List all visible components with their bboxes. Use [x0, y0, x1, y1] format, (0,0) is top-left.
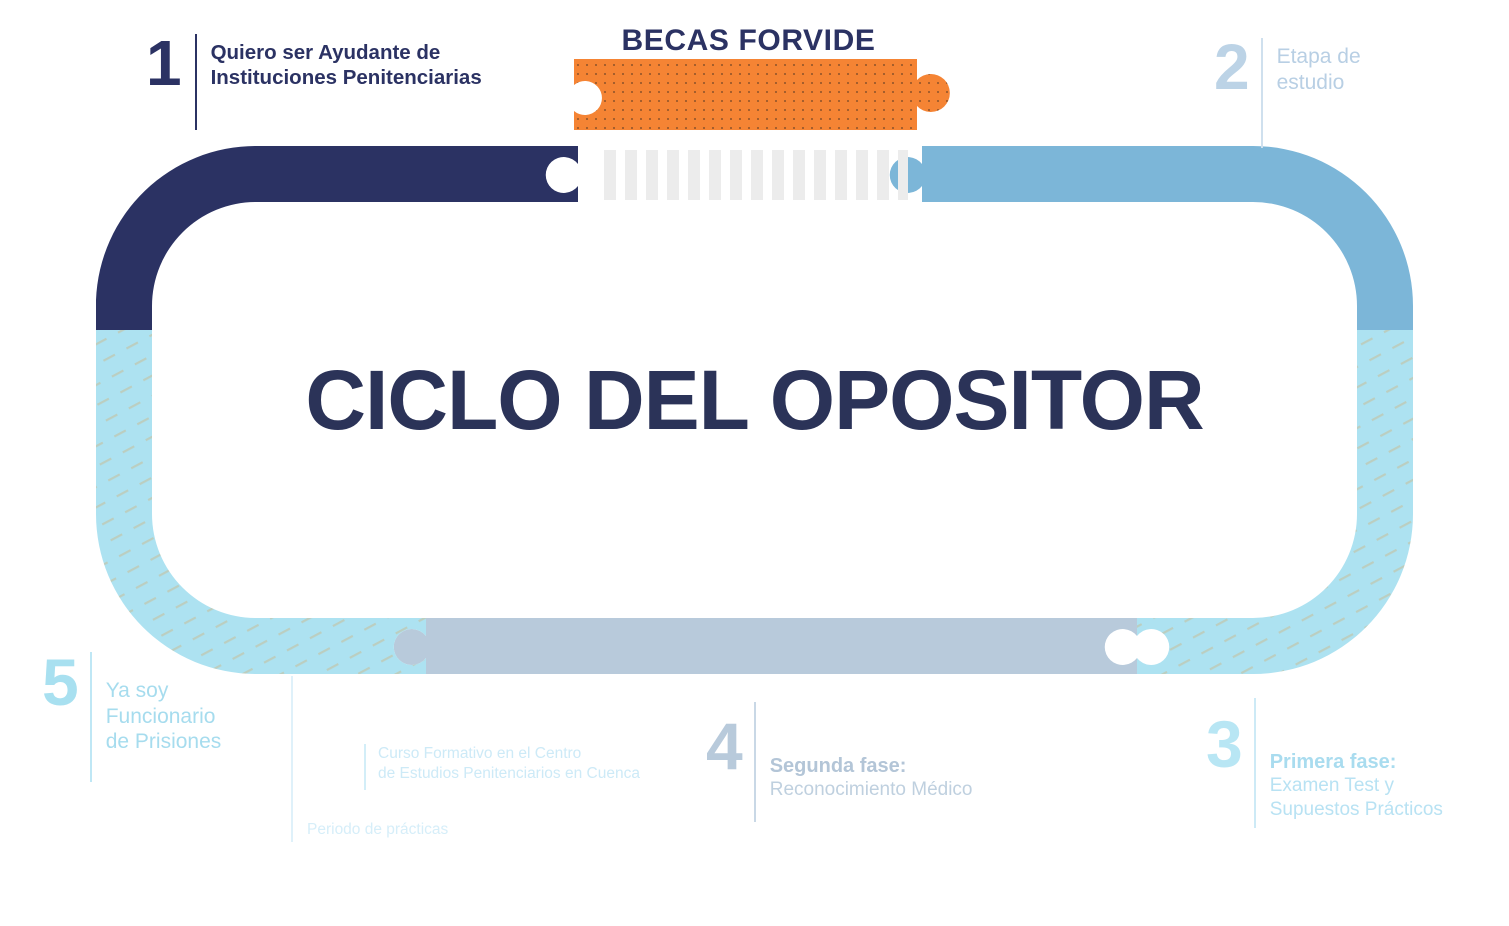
- dashed-gap: [604, 150, 908, 200]
- step-4-title: Segunda fase:: [770, 754, 973, 778]
- step-3-number: 3: [1206, 714, 1242, 775]
- step-1[interactable]: 1 Quiero ser Ayudante de Instituciones P…: [146, 34, 482, 130]
- step-3-title: Primera fase:: [1270, 750, 1443, 774]
- track-segment-navy: [96, 146, 578, 330]
- step-3-subtitle: Examen Test y Supuestos Prácticos: [1270, 774, 1443, 820]
- becas-heading-text: BECAS FORVIDE: [622, 24, 876, 58]
- step-5-divider: [90, 652, 92, 782]
- periodo-divider: [291, 676, 293, 842]
- step-4-subtitle: Reconocimiento Médico: [770, 778, 973, 801]
- step-1-number: 1: [146, 34, 181, 93]
- step-2-title: Etapa de estudio: [1277, 44, 1361, 95]
- step-1-divider: [195, 34, 197, 130]
- step-4[interactable]: 4 Segunda fase: Reconocimiento Médico: [706, 716, 972, 822]
- step-5-number: 5: [42, 652, 78, 713]
- step-5[interactable]: 5 Ya soy Funcionario de Prisiones: [42, 652, 221, 782]
- step-3-divider: [1254, 698, 1256, 828]
- step-1-title: Quiero ser Ayudante de Instituciones Pen…: [211, 40, 482, 90]
- periodo-text: Periodo de prácticas: [307, 821, 448, 842]
- step-4-divider: [754, 702, 756, 822]
- infographic-canvas: BECAS FORVIDE CICLO DEL OPOSITOR 1 Quier…: [0, 0, 1509, 926]
- track-segment-mid-blue: [890, 146, 1413, 330]
- track-segment-grey-blue: [394, 618, 1137, 674]
- step-2[interactable]: 2 Etapa de estudio: [1214, 38, 1361, 148]
- step-2-divider: [1261, 38, 1263, 148]
- step-4-number: 4: [706, 716, 742, 777]
- annotation-periodo-practicas: Periodo de prácticas: [291, 676, 448, 842]
- page-title: CICLO DEL OPOSITOR: [0, 352, 1509, 449]
- step-3[interactable]: 3 Primera fase: Examen Test y Supuestos …: [1206, 714, 1443, 828]
- step-5-title: Ya soy Funcionario de Prisiones: [106, 678, 222, 755]
- step-2-number: 2: [1214, 38, 1249, 97]
- becas-forvide-bar[interactable]: [574, 59, 950, 130]
